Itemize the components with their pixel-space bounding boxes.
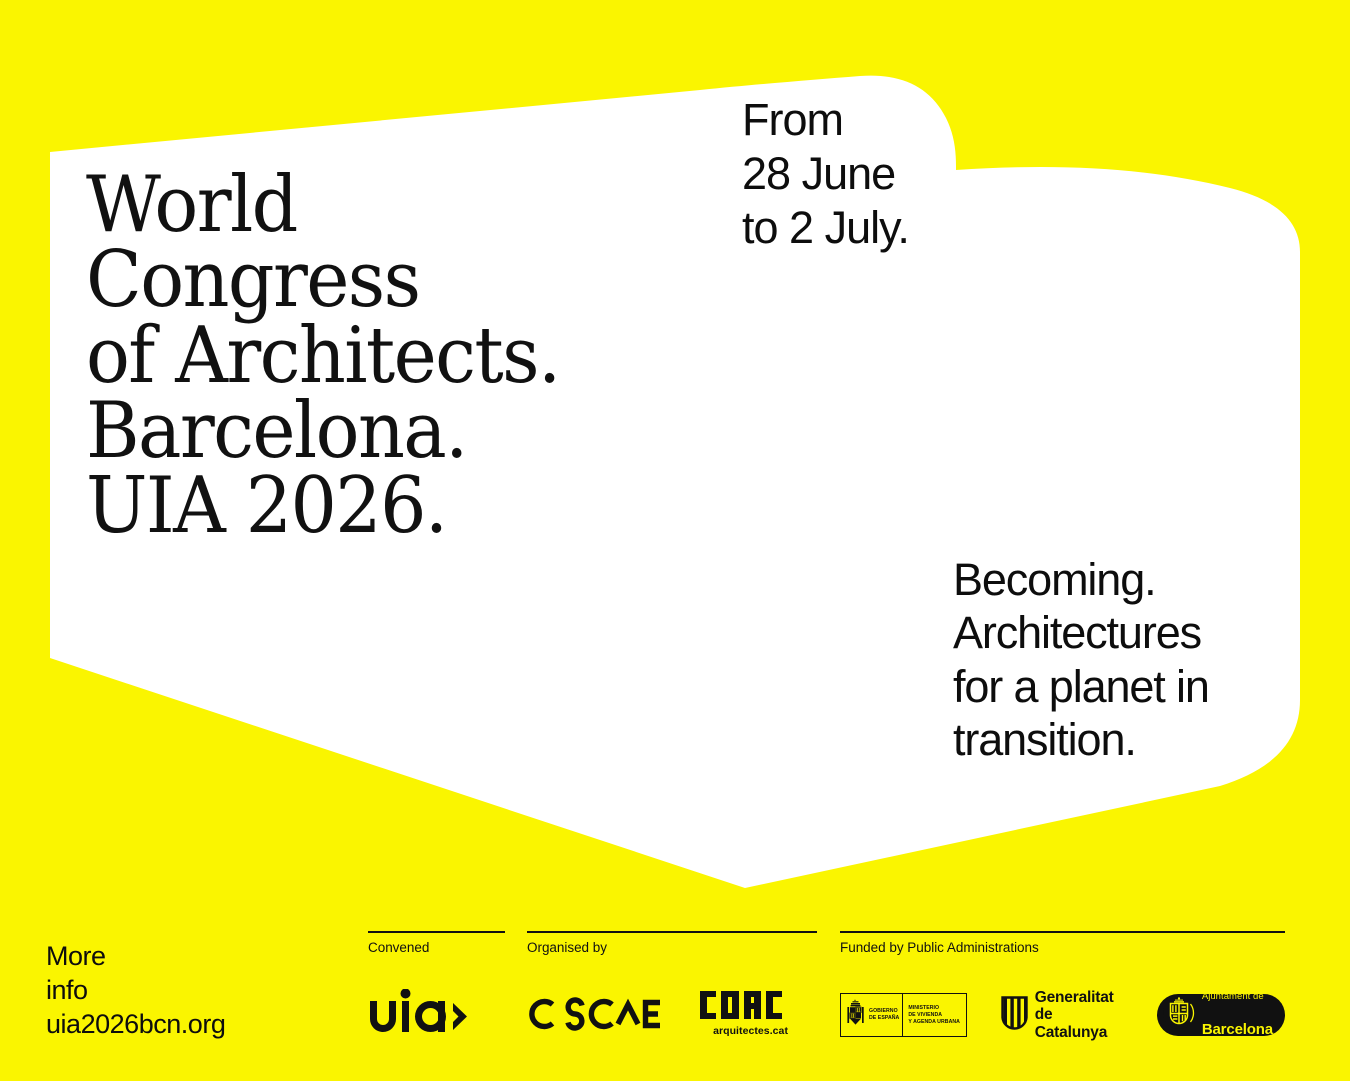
generalitat-de-catalunya-logo[interactable]: Generalitat de Catalunya bbox=[1001, 989, 1123, 1041]
page-title: World Congress of Architects. Barcelona.… bbox=[86, 168, 666, 544]
ajuntament-de-barcelona-logo[interactable]: Ajuntament de Barcelona bbox=[1157, 994, 1285, 1036]
ajuntament-label: Ajuntament de bbox=[1202, 992, 1273, 1002]
more-info-block[interactable]: More info uia2026bcn.org bbox=[46, 939, 225, 1041]
credit-label-convened: Convened bbox=[368, 940, 505, 955]
credit-group-convened: Convened bbox=[368, 931, 505, 955]
footer: More info uia2026bcn.org Convened bbox=[0, 931, 1350, 1081]
coac-logo[interactable]: arquitectes.cat bbox=[698, 989, 788, 1037]
event-tagline: Becoming. Architectures for a planet in … bbox=[953, 553, 1209, 766]
ministerio-label: MINISTERIO DE VIVIENDA Y AGENDA URBANA bbox=[908, 1005, 960, 1026]
uia-logo[interactable] bbox=[368, 989, 472, 1038]
event-dates: From 28 June to 2 July. bbox=[742, 93, 909, 255]
gobierno-label: GOBIERNO DE ESPAÑA bbox=[869, 1008, 899, 1022]
spain-coat-of-arms-icon: GOBIERNO DE ESPAÑA bbox=[841, 994, 903, 1036]
catalan-shield-icon bbox=[1001, 996, 1028, 1035]
coac-tagline: arquitectes.cat bbox=[713, 1025, 788, 1037]
credit-group-organised: Organised by bbox=[527, 931, 817, 955]
divider bbox=[527, 931, 817, 933]
gobierno-de-espana-logo[interactable]: GOBIERNO DE ESPAÑA MINISTERIO DE VIVIEND… bbox=[840, 993, 967, 1037]
convened-logos bbox=[368, 989, 472, 1038]
coac-wordmark bbox=[698, 989, 788, 1021]
credit-label-organised: Organised by bbox=[527, 940, 817, 955]
cscae-logo[interactable] bbox=[527, 996, 662, 1037]
funded-logos: GOBIERNO DE ESPAÑA MINISTERIO DE VIVIEND… bbox=[840, 989, 1285, 1041]
divider bbox=[840, 931, 1285, 933]
barcelona-crest-icon bbox=[1162, 996, 1196, 1035]
organised-logos: arquitectes.cat bbox=[527, 989, 788, 1037]
barcelona-label: Barcelona bbox=[1202, 1021, 1273, 1038]
divider bbox=[368, 931, 505, 933]
generalitat-label: Generalitat de Catalunya bbox=[1035, 989, 1123, 1041]
credit-group-funded: Funded by Public Administrations bbox=[840, 931, 1285, 955]
credit-label-funded: Funded by Public Administrations bbox=[840, 940, 1285, 955]
